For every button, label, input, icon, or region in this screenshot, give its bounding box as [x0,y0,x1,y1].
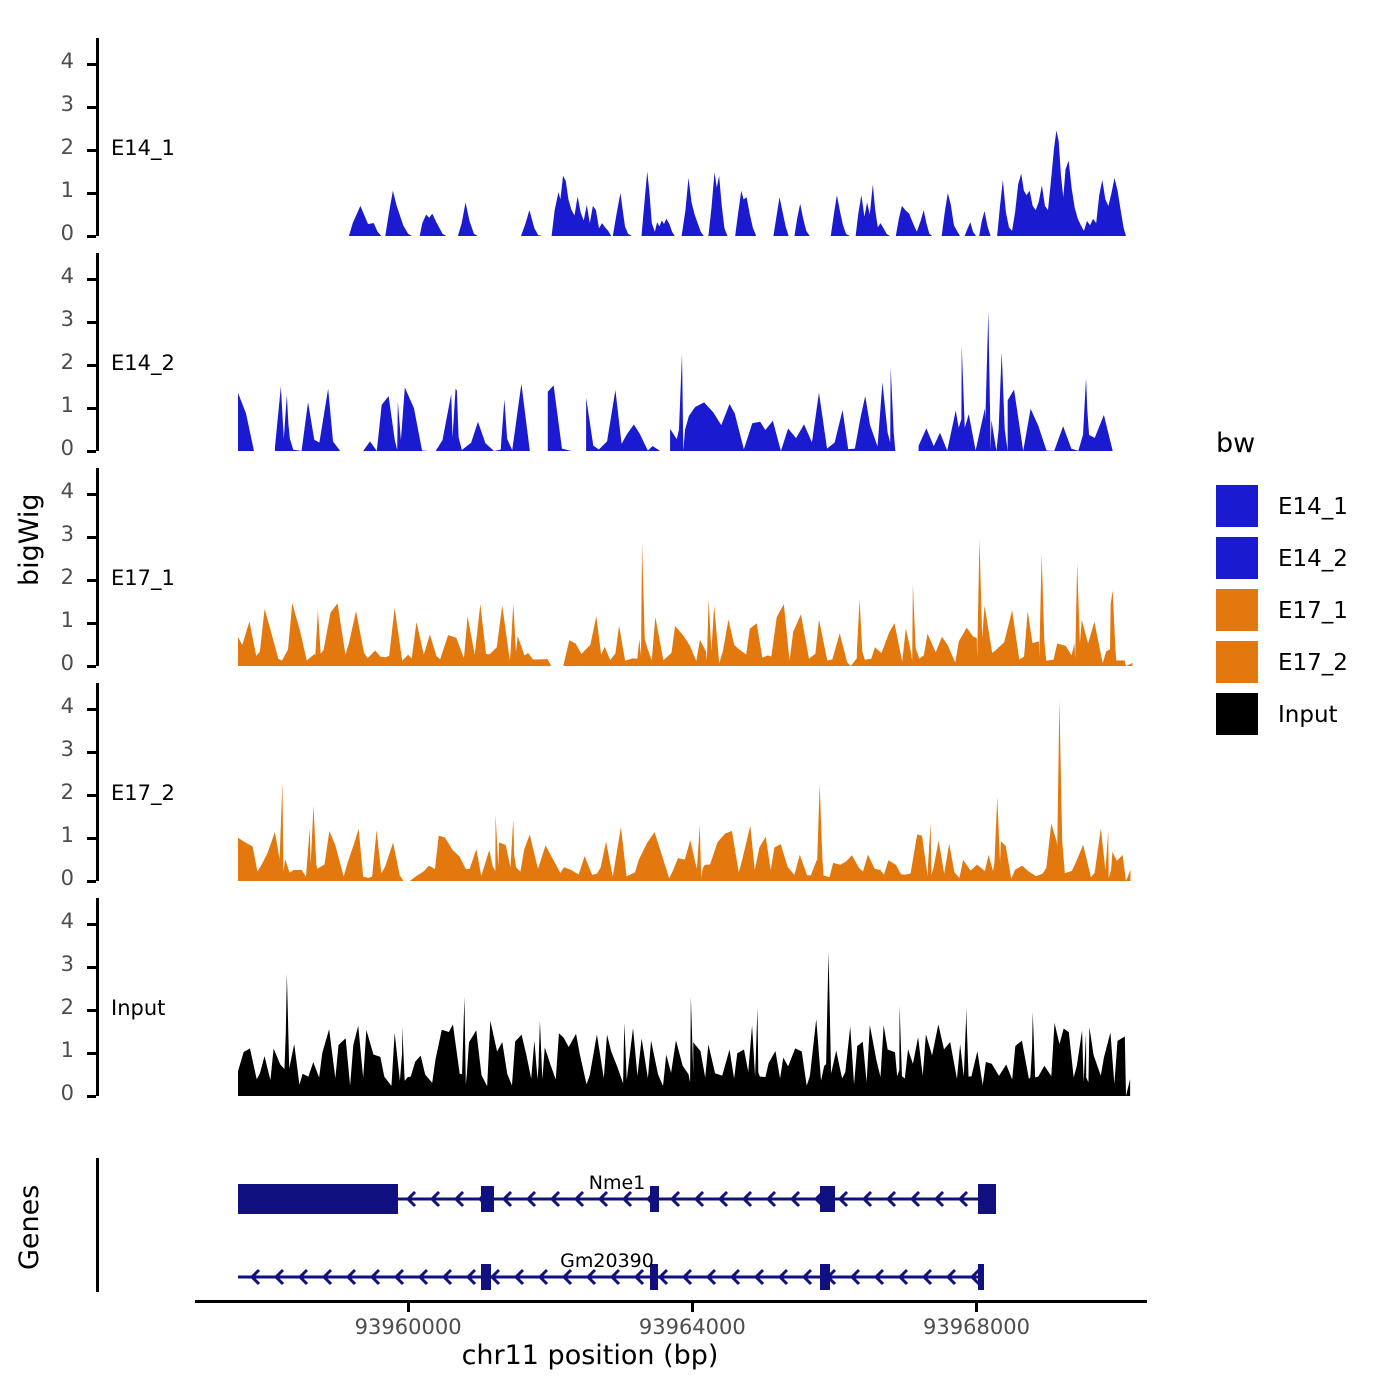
exon-box [481,1264,491,1290]
signal-area [238,311,1132,451]
legend-label-e14_1: E14_1 [1278,494,1348,520]
legend-label-e14_2: E14_2 [1278,546,1348,572]
signal-track-e17_1 [0,468,1146,668]
x-tick-label: 93960000 [355,1315,462,1339]
signal-area [238,700,1130,881]
x-tick-label: 93964000 [639,1315,746,1339]
legend-label-e17_1: E17_1 [1278,598,1348,624]
signal-track-e14_2 [0,253,1146,453]
signal-area [238,131,1126,236]
x-axis-title: chr11 position (bp) [0,1340,1180,1371]
legend-label-input: Input [1278,702,1338,728]
signal-track-input [0,898,1146,1098]
exon-box [481,1186,494,1212]
exon-box [238,1184,398,1214]
legend-swatch-input [1216,693,1258,735]
x-tick-mark [691,1303,694,1312]
legend-label-e17_2: E17_2 [1278,650,1348,676]
signal-track-e17_2 [0,683,1146,883]
exon-box [650,1186,659,1212]
signal-area [238,539,1132,666]
exon-box [820,1264,830,1290]
legend-title: bw [1216,428,1255,459]
exon-box [978,1264,984,1290]
x-tick-mark [407,1303,410,1312]
signal-track-e14_1 [0,38,1146,238]
x-tick-label: 93968000 [923,1315,1030,1339]
gene-label-gm20390: Gm20390 [560,1250,654,1272]
signal-area [238,952,1130,1096]
exon-box [820,1186,835,1212]
exon-box [978,1184,996,1214]
legend-swatch-e14_2 [1216,537,1258,579]
x-axis-line [195,1300,1147,1303]
legend-swatch-e17_2 [1216,641,1258,683]
legend-swatch-e17_1 [1216,589,1258,631]
gene-label-nme1: Nme1 [589,1172,646,1194]
x-tick-mark [975,1303,978,1312]
legend-swatch-e14_1 [1216,485,1258,527]
